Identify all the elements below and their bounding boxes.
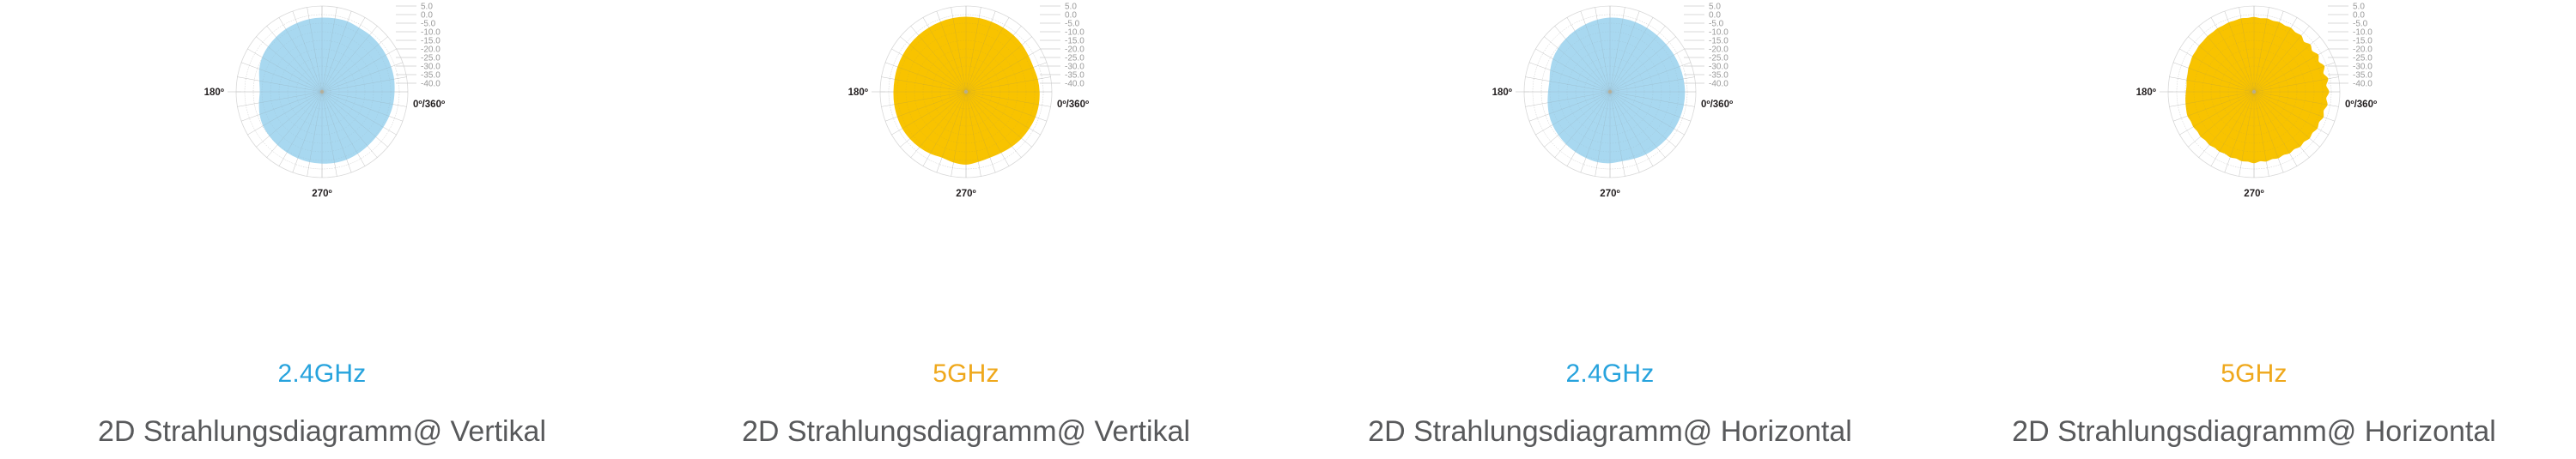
polar-plot-area: 5.00.0-5.0-10.0-15.0-20.0-25.0-30.0-35.0… [644, 0, 1288, 360]
radial-tick-label: -40.0 [1709, 79, 1728, 88]
angle-label-0-360: 0º/360º [1701, 100, 1733, 110]
radial-tick-label: -40.0 [2353, 79, 2372, 88]
angle-label-0-360: 0º/360º [413, 100, 445, 110]
polar-plot-area: 5.00.0-5.0-10.0-15.0-20.0-25.0-30.0-35.0… [0, 0, 644, 360]
polar-origin-marker [320, 90, 324, 94]
angle-label-270: 270º [2244, 189, 2263, 199]
frequency-label: 2.4GHz [1288, 359, 1932, 390]
polar-chart-svg: 5.00.0-5.0-10.0-15.0-20.0-25.0-30.0-35.0… [644, 2, 1288, 362]
polar-chart-svg: 5.00.0-5.0-10.0-15.0-20.0-25.0-30.0-35.0… [0, 2, 644, 362]
angle-label-180: 180º [204, 88, 224, 98]
angle-label-180: 180º [848, 88, 868, 98]
polar-origin-marker [1608, 90, 1612, 94]
radial-tick-group: 5.00.0-5.0-10.0-15.0-20.0-25.0-30.0-35.0… [1684, 2, 1728, 88]
frequency-label: 5GHz [644, 359, 1288, 390]
radial-tick-group: 5.00.0-5.0-10.0-15.0-20.0-25.0-30.0-35.0… [2328, 2, 2372, 88]
angle-label-180: 180º [2136, 88, 2156, 98]
polar-chart-svg: 5.00.0-5.0-10.0-15.0-20.0-25.0-30.0-35.0… [1932, 2, 2576, 362]
chart-panel: 5.00.0-5.0-10.0-15.0-20.0-25.0-30.0-35.0… [1288, 0, 1932, 459]
radial-tick-group: 5.00.0-5.0-10.0-15.0-20.0-25.0-30.0-35.0… [396, 2, 440, 88]
radial-tick-group: 5.00.0-5.0-10.0-15.0-20.0-25.0-30.0-35.0… [1040, 2, 1084, 88]
frequency-label: 2.4GHz [0, 359, 644, 390]
radiation-pattern-trace [259, 18, 394, 163]
chart-caption: 2D Strahlungsdiagramm@ Vertikal [0, 414, 644, 450]
chart-panel: 5.00.0-5.0-10.0-15.0-20.0-25.0-30.0-35.0… [644, 0, 1288, 459]
angle-label-0-360: 0º/360º [2345, 100, 2377, 110]
polar-origin-marker [2252, 90, 2256, 94]
polar-plot-area: 5.00.0-5.0-10.0-15.0-20.0-25.0-30.0-35.0… [1288, 0, 1932, 360]
angle-label-270: 270º [312, 189, 331, 199]
radial-tick-label: -40.0 [421, 79, 440, 88]
chart-caption: 2D Strahlungsdiagramm@ Horizontal [1932, 414, 2576, 450]
polar-origin-marker [964, 90, 968, 94]
chart-caption: 2D Strahlungsdiagramm@ Vertikal [644, 414, 1288, 450]
angle-label-0-360: 0º/360º [1057, 100, 1089, 110]
polar-chart-svg: 5.00.0-5.0-10.0-15.0-20.0-25.0-30.0-35.0… [1288, 2, 1932, 362]
angle-label-270: 270º [1600, 189, 1619, 199]
radial-tick-label: -40.0 [1065, 79, 1084, 88]
chart-caption: 2D Strahlungsdiagramm@ Horizontal [1288, 414, 1932, 450]
angle-label-270: 270º [956, 189, 975, 199]
chart-panel: 5.00.0-5.0-10.0-15.0-20.0-25.0-30.0-35.0… [1932, 0, 2576, 459]
radiation-pattern-figure: 5.00.0-5.0-10.0-15.0-20.0-25.0-30.0-35.0… [0, 0, 2576, 459]
panel-row: 5.00.0-5.0-10.0-15.0-20.0-25.0-30.0-35.0… [0, 0, 2576, 459]
frequency-label: 5GHz [1932, 359, 2576, 390]
angle-label-180: 180º [1492, 88, 1512, 98]
chart-panel: 5.00.0-5.0-10.0-15.0-20.0-25.0-30.0-35.0… [0, 0, 644, 459]
polar-plot-area: 5.00.0-5.0-10.0-15.0-20.0-25.0-30.0-35.0… [1932, 0, 2576, 360]
